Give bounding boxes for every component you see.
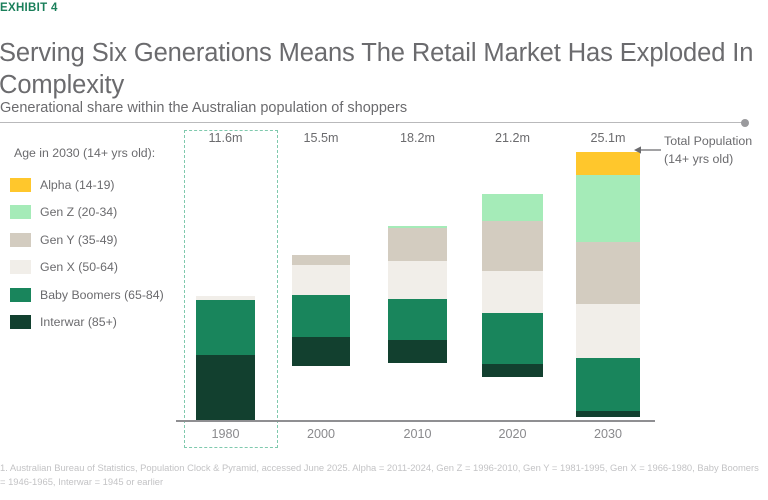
stacked-bar-chart: 11.6m198015.5m200018.2m201021.2m202025.1…	[0, 0, 768, 500]
bar-segment-2020-geny[interactable]	[482, 221, 543, 270]
bar-1980[interactable]	[196, 296, 255, 420]
bar-segment-2000-interwar[interactable]	[292, 337, 350, 366]
bar-segment-2000-genx[interactable]	[292, 265, 350, 295]
bar-total-label-2020: 21.2m	[482, 131, 543, 145]
x-axis-label-2000: 2000	[292, 427, 350, 441]
bar-segment-2010-interwar[interactable]	[388, 340, 447, 363]
x-axis-line	[176, 420, 655, 422]
bar-segment-2010-boomers[interactable]	[388, 299, 447, 340]
bar-segment-2000-boomers[interactable]	[292, 295, 350, 337]
annotation-line-1: Total Population	[664, 133, 752, 151]
bar-segment-2030-geny[interactable]	[576, 242, 640, 304]
bar-segment-2010-geny[interactable]	[388, 228, 447, 261]
x-axis-label-2010: 2010	[388, 427, 447, 441]
bar-segment-2020-interwar[interactable]	[482, 364, 543, 377]
bar-total-label-1980: 11.6m	[196, 131, 255, 145]
bar-segment-2000-geny[interactable]	[292, 255, 350, 266]
bar-segment-2030-alpha[interactable]	[576, 152, 640, 175]
bar-segment-2030-genx[interactable]	[576, 304, 640, 358]
bar-segment-2010-genx[interactable]	[388, 261, 447, 299]
bar-2030[interactable]	[576, 152, 640, 420]
bar-2020[interactable]	[482, 194, 543, 420]
footnote: 1. Australian Bureau of Statistics, Popu…	[0, 461, 766, 489]
x-axis-label-2020: 2020	[482, 427, 543, 441]
bar-total-label-2010: 18.2m	[388, 131, 447, 145]
bar-total-label-2000: 15.5m	[292, 131, 350, 145]
bar-2000[interactable]	[292, 255, 350, 420]
bar-segment-2020-genx[interactable]	[482, 271, 543, 314]
bar-total-label-2030: 25.1m	[576, 131, 640, 145]
left-arrow-icon	[634, 145, 662, 155]
x-axis-label-1980: 1980	[196, 427, 255, 441]
bar-segment-1980-interwar[interactable]	[196, 355, 255, 420]
bar-segment-2030-interwar[interactable]	[576, 411, 640, 416]
annotation-line-2: (14+ yrs old)	[664, 151, 752, 169]
bar-segment-2030-genz[interactable]	[576, 175, 640, 241]
bar-segment-2020-boomers[interactable]	[482, 313, 543, 364]
bar-2010[interactable]	[388, 226, 447, 420]
bar-segment-2030-boomers[interactable]	[576, 358, 640, 411]
bar-segment-2020-genz[interactable]	[482, 194, 543, 222]
x-axis-label-2030: 2030	[576, 427, 640, 441]
total-population-annotation: Total Population (14+ yrs old)	[664, 133, 752, 169]
bar-segment-1980-boomers[interactable]	[196, 300, 255, 354]
